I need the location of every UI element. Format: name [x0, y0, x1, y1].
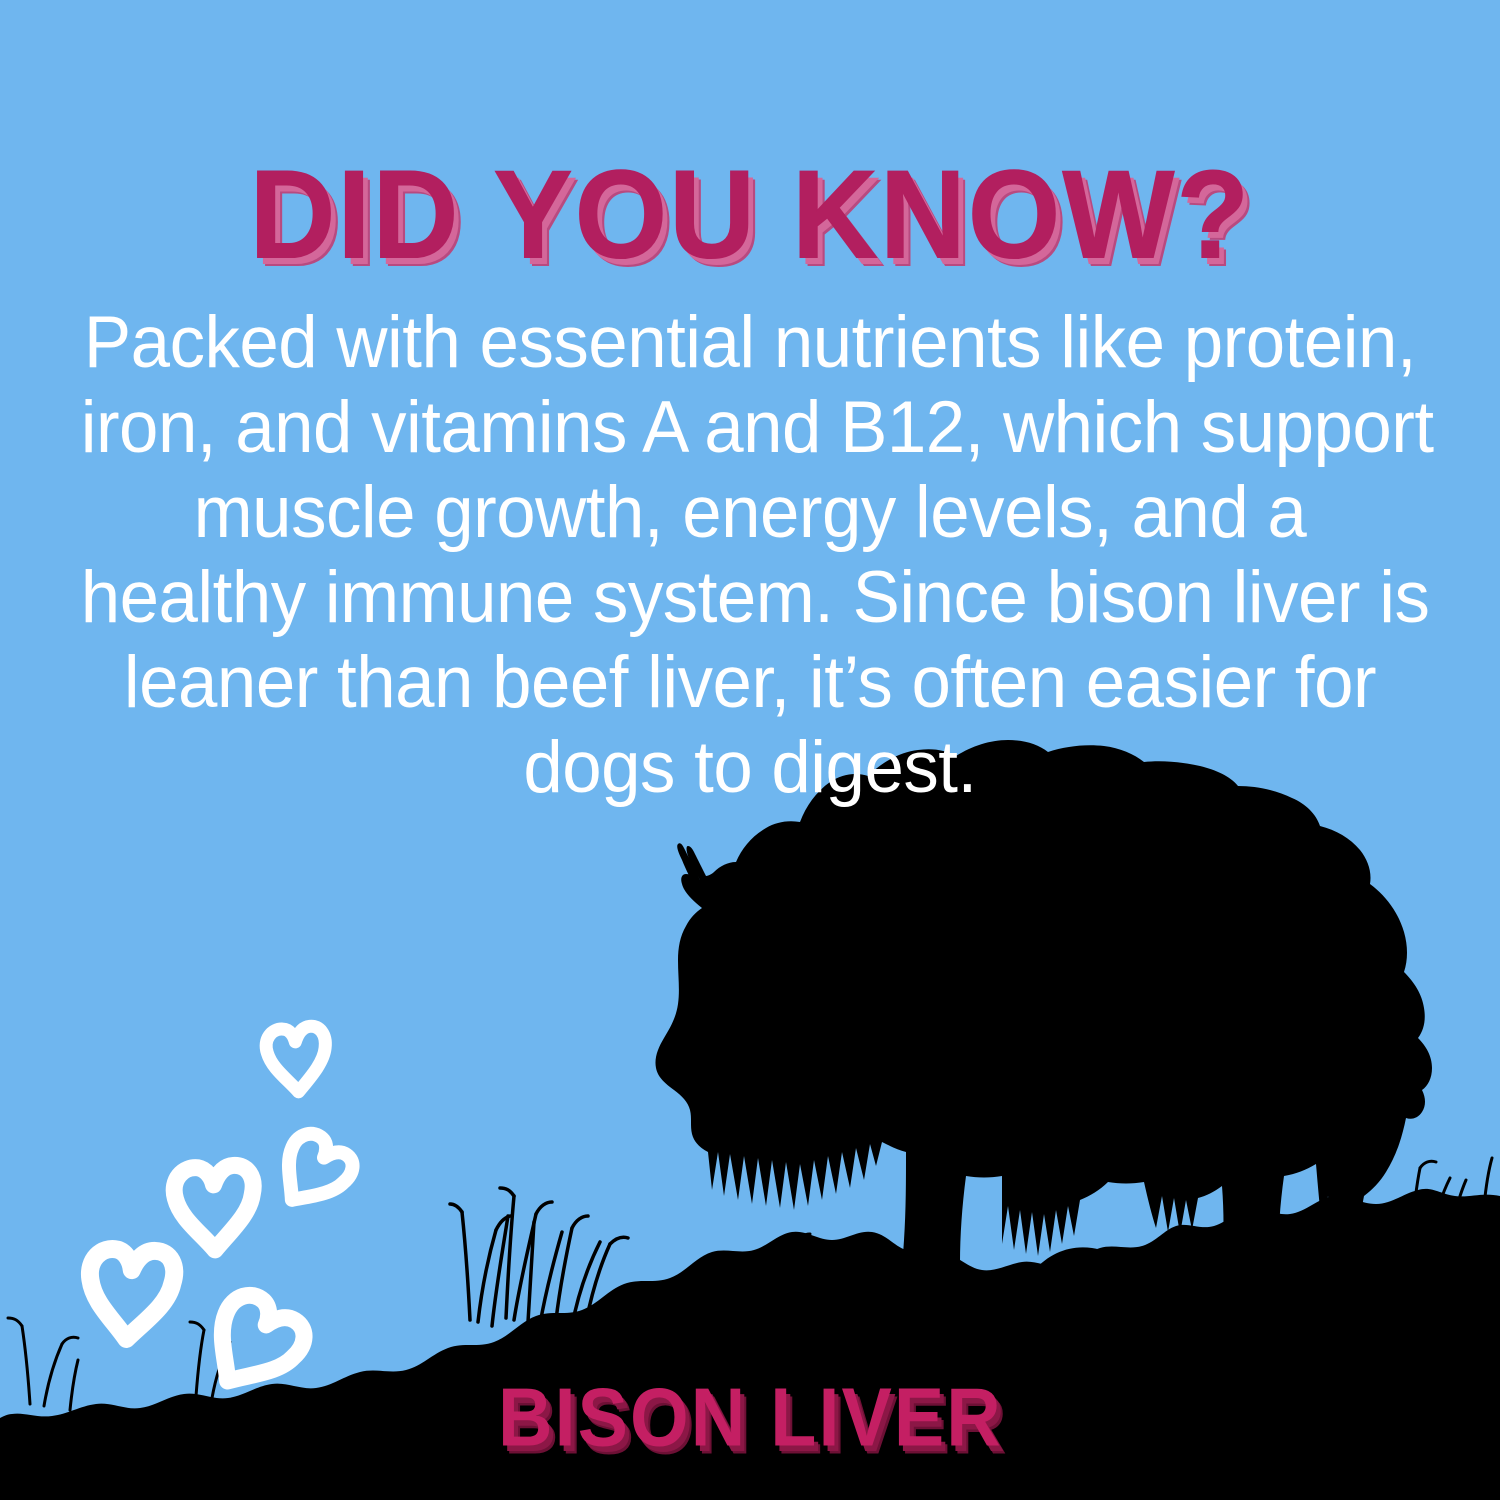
body-line-6: dogs to digest. [81, 725, 1420, 810]
headline-container: DID YOU KNOW? [0, 152, 1500, 264]
body-line-1: Packed with essential nutrients like pro… [81, 300, 1420, 385]
heart-icon-1 [264, 1025, 330, 1095]
caption-container: BISON LIVER [0, 1376, 1500, 1450]
poster-canvas: DID YOU KNOW? Packed with essential nutr… [0, 0, 1500, 1500]
hearts-doodle-group [88, 1025, 359, 1405]
heart-icon-4 [88, 1248, 175, 1340]
heart-icon-3 [173, 1164, 258, 1253]
body-line-2: iron, and vitamins A and B12, which supp… [81, 385, 1420, 470]
body-line-5: leaner than beef liver, it’s often easie… [81, 640, 1420, 725]
body-line-4: healthy immune system. Since bison liver… [81, 555, 1420, 640]
body-line-3: muscle growth, energy levels, and a [81, 470, 1420, 555]
heart-icon-2 [267, 1127, 358, 1219]
body-copy-block: Packed with essential nutrients like pro… [81, 300, 1420, 810]
product-caption: BISON LIVER [498, 1376, 1003, 1459]
page-title: DID YOU KNOW? [249, 152, 1251, 277]
